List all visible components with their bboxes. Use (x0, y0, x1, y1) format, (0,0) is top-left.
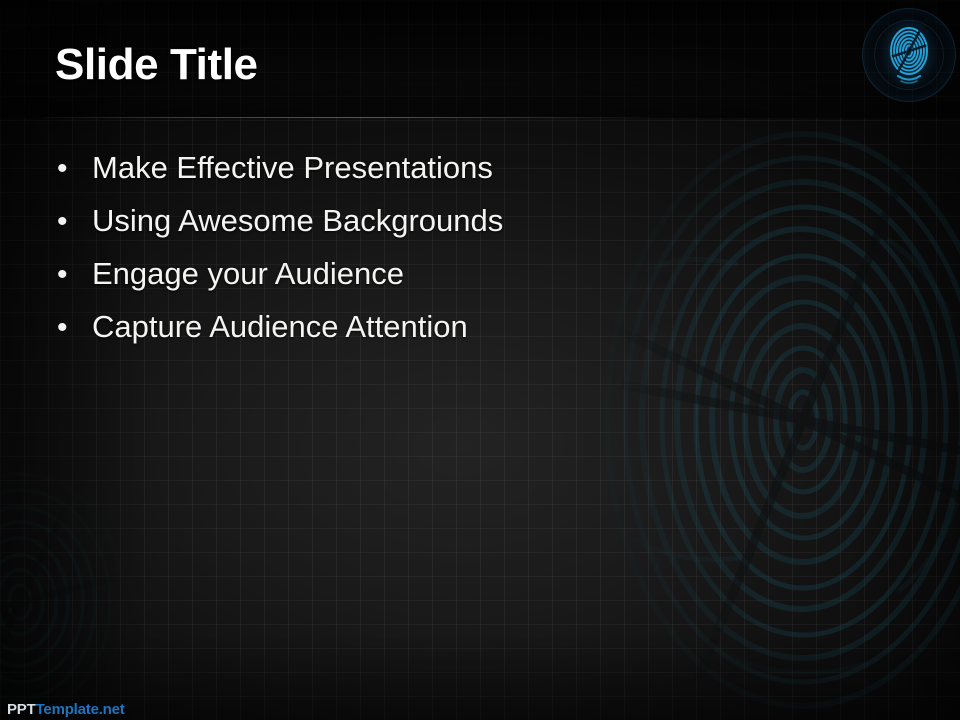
list-item-label: Capture Audience Attention (92, 311, 468, 342)
bullet-point-icon: • (55, 260, 92, 290)
bullet-point-icon: • (55, 207, 92, 237)
page-title: Slide Title (55, 41, 258, 89)
title-divider (44, 117, 660, 118)
footer-logo-ppt: PPT (7, 701, 36, 718)
fingerprint-scanner-icon (862, 8, 956, 102)
fingerprint-glyph-icon (889, 26, 929, 84)
bullet-list: • Make Effective Presentations • Using A… (55, 152, 655, 364)
list-item: • Engage your Audience (55, 258, 655, 311)
footer-logo[interactable]: PPTTemplate.net (7, 702, 125, 717)
list-item: • Capture Audience Attention (55, 311, 655, 364)
presentation-slide: Slide Title • Make Effective Presentatio… (0, 0, 960, 720)
list-item: • Using Awesome Backgrounds (55, 205, 655, 258)
list-item-label: Using Awesome Backgrounds (92, 205, 503, 236)
footer-logo-template: Template.net (36, 701, 125, 718)
list-item: • Make Effective Presentations (55, 152, 655, 205)
list-item-label: Engage your Audience (92, 258, 404, 289)
bullet-point-icon: • (55, 313, 92, 343)
bullet-point-icon: • (55, 154, 92, 184)
list-item-label: Make Effective Presentations (92, 152, 493, 183)
